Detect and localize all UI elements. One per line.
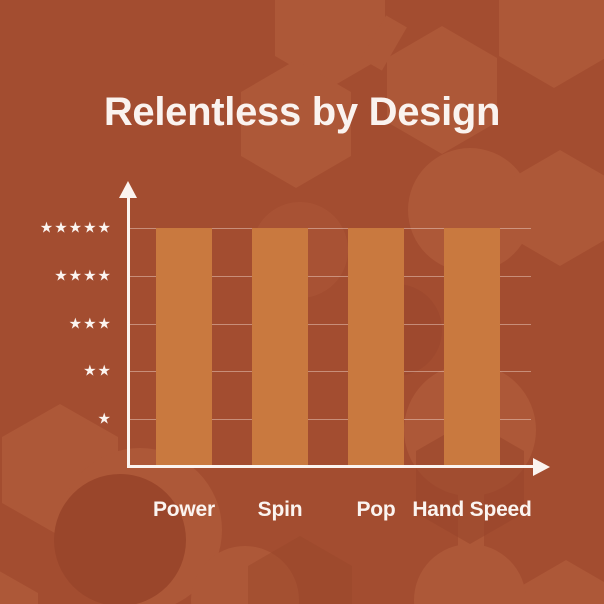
x-axis-tick-label: Hand Speed [412,496,532,523]
x-axis-line [127,465,537,468]
bar [348,228,404,467]
y-axis-tick-label: ★ [98,412,112,427]
y-axis-line [127,196,130,468]
y-axis-tick-label: ★★ [83,364,112,379]
y-axis-tick-label: ★★★★★ [40,221,112,236]
arrow-up-icon [119,181,137,198]
chart-canvas: Relentless by Design ★★★★★★★★★★★★★★★ Pow… [0,0,604,604]
bar [252,228,308,467]
arrow-right-icon [533,458,550,476]
y-axis-tick-label: ★★★ [69,316,112,331]
plot-area: ★★★★★★★★★★★★★★★ PowerSpinPopHand Speed [0,0,604,604]
y-axis-tick-label: ★★★★ [54,268,112,283]
bar [444,228,500,467]
bar [156,228,212,467]
